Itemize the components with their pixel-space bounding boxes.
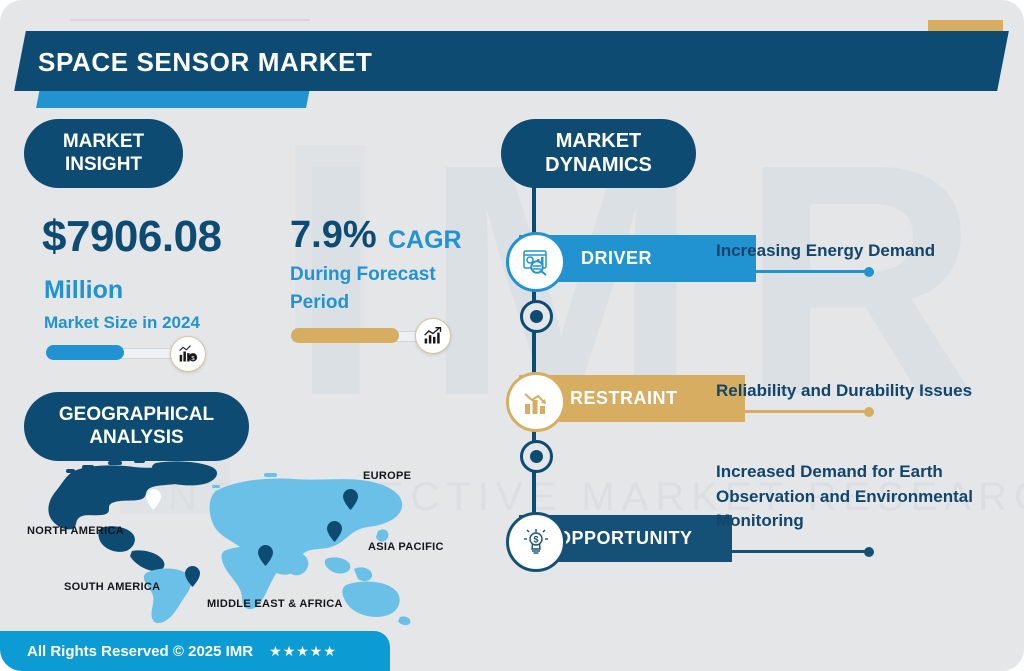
cagr-tag: CAGR — [388, 226, 462, 255]
header-hairline — [70, 19, 310, 21]
restraint-text: Reliability and Durability Issues — [716, 379, 1024, 404]
cagr-progress-track — [291, 331, 433, 342]
market-size-value: $7906.08 — [42, 212, 222, 262]
restraint-label: RESTRAINT — [570, 388, 678, 409]
geo-label-asia-pacific: ASIA PACIFIC — [368, 541, 444, 553]
map-region-north-america — [48, 459, 217, 571]
geo-pill-line2: ANALYSIS — [89, 427, 183, 448]
map-pin-asia-pacific — [327, 521, 342, 542]
dynamics-pill-line1: MARKET — [556, 130, 642, 152]
growth-chart-icon — [415, 318, 451, 354]
geo-label-north-america: NORTH AMERICA — [27, 525, 124, 537]
map-pin-europe — [343, 489, 358, 510]
market-size-progress-track — [46, 348, 188, 359]
geo-pill-line1: GEOGRAPHICAL — [59, 404, 214, 425]
opportunity-label: OPPORTUNITY — [557, 528, 693, 549]
geo-label-europe: EUROPE — [363, 470, 411, 482]
restraint-leader-line — [694, 410, 869, 413]
opportunity-text: Increased Demand for Earth Observation a… — [716, 460, 1011, 534]
market-dynamics-pill: MARKET DYNAMICS — [501, 119, 696, 188]
cagr-progress-fill — [291, 328, 399, 343]
market-insight-pill-line1: MARKET — [63, 131, 144, 152]
dynamics-node-1 — [520, 300, 553, 333]
svg-text:$: $ — [533, 535, 538, 545]
market-size-progress-fill — [46, 345, 124, 360]
market-insight-pill: MARKET INSIGHT — [24, 119, 183, 188]
geo-label-south-america: SOUTH AMERICA — [64, 581, 160, 593]
footer-bar: All Rights Reserved © 2025 IMR ★★★★★ — [0, 631, 390, 671]
geographical-analysis-pill: GEOGRAPHICAL ANALYSIS — [24, 392, 249, 461]
opportunity-leader-dot — [864, 547, 874, 557]
geo-label-middle-east-africa: MIDDLE EAST & AFRICA — [207, 598, 343, 610]
map-pin-middle-east-africa — [258, 545, 273, 566]
infographic-canvas: IMR INTROSPECTIVE MARKET RESEARCH SPACE … — [0, 0, 1024, 671]
driver-text: Increasing Energy Demand — [716, 239, 1016, 264]
dynamics-pill-line2: DYNAMICS — [545, 154, 652, 176]
driver-label: DRIVER — [581, 248, 652, 269]
restraint-leader-dot — [864, 407, 874, 417]
driver-leader-line — [694, 270, 869, 273]
market-size-caption: Market Size in 2024 — [44, 313, 200, 333]
header-underline-bar — [36, 88, 310, 108]
map-pin-south-america — [185, 566, 200, 587]
opportunity-leader-line — [694, 550, 869, 553]
cagr-value: 7.9% — [290, 214, 377, 257]
copyright-text: All Rights Reserved © 2025 IMR — [27, 643, 253, 660]
driver-leader-dot — [864, 267, 874, 277]
market-size-unit: Million — [44, 276, 123, 305]
lightbulb-dollar-icon: $ — [506, 512, 566, 572]
map-pin-north-america — [146, 489, 161, 510]
declining-bar-chart-icon — [506, 372, 566, 432]
bar-chart-dollar-icon: $ — [170, 336, 206, 372]
dashboard-search-icon — [506, 232, 566, 292]
dynamics-node-2 — [520, 440, 553, 473]
page-title: SPACE SENSOR MARKET — [38, 44, 798, 80]
market-insight-pill-line2: INSIGHT — [65, 154, 142, 175]
rating-stars: ★★★★★ — [269, 643, 337, 660]
cagr-caption: During Forecast Period — [290, 261, 470, 316]
